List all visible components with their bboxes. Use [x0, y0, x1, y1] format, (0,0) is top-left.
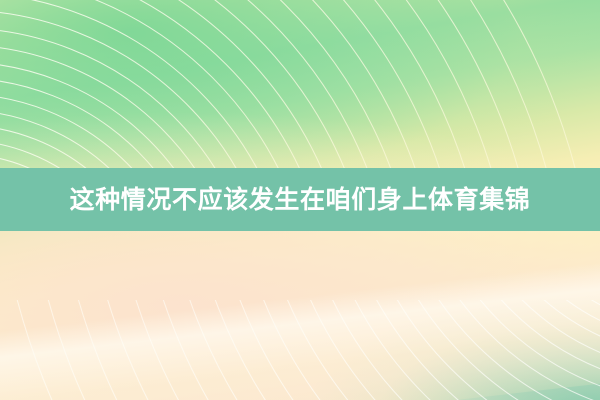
page-title: 这种情况不应该发生在咱们身上体育集锦 — [70, 187, 531, 212]
banner-canvas: 这种情况不应该发生在咱们身上体育集锦 — [0, 0, 600, 400]
headline-band: 这种情况不应该发生在咱们身上体育集锦 — [0, 168, 600, 231]
